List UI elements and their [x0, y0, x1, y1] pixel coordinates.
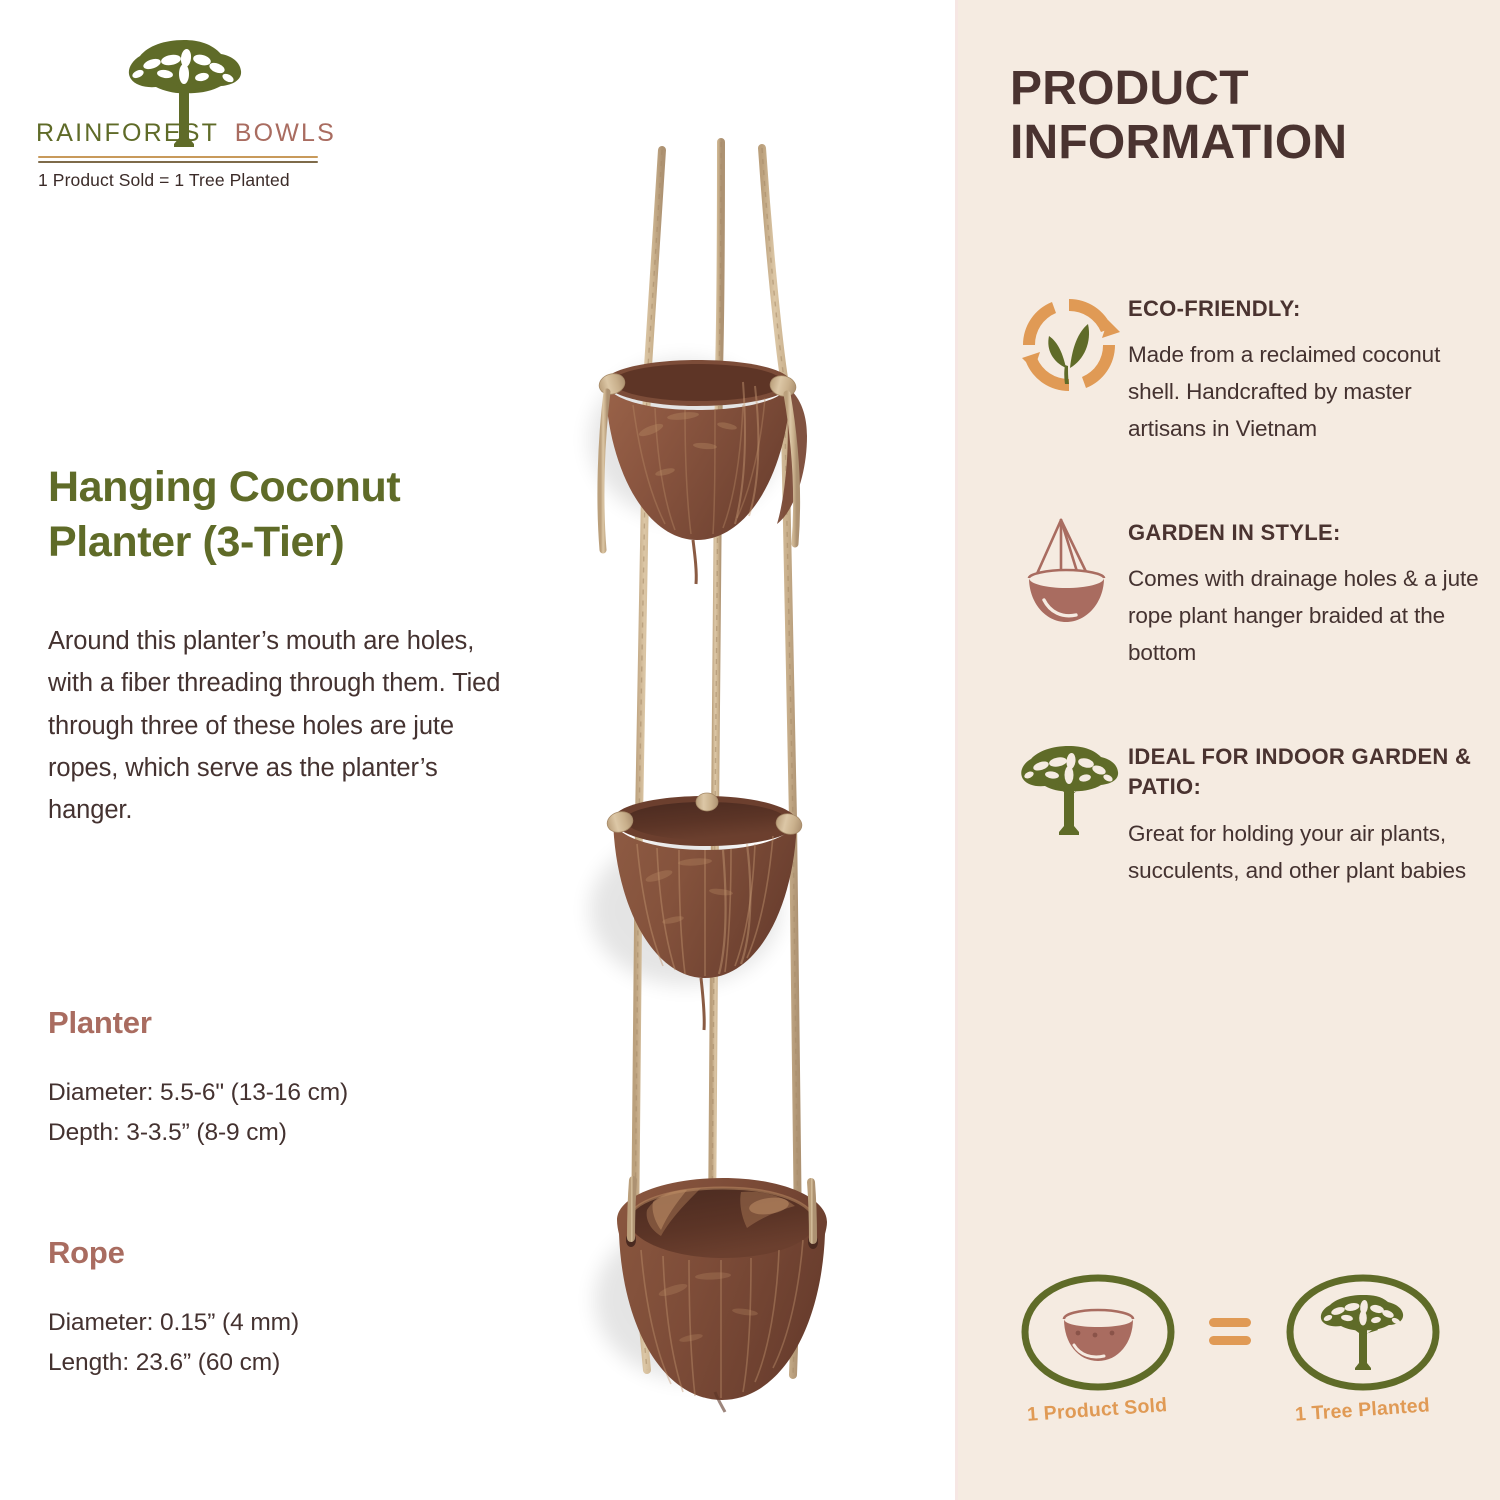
feature-text-garden-in-style: GARDEN IN STYLE: Comes with drainage hol… [1128, 514, 1480, 672]
logo-lockup: RAINFOREST [36, 34, 336, 154]
equals-sign-icon [1200, 1318, 1260, 1345]
spec-planter-diameter: Diameter: 5.5-6" (13-16 cm) [48, 1073, 478, 1113]
feature-eco-friendly: ECO-FRIENDLY: Made from a reclaimed coco… [1010, 290, 1480, 448]
spec-heading-rope: Rope [48, 1235, 478, 1271]
product-description: Around this planter’s mouth are holes, w… [48, 620, 503, 832]
logo-word-bowls: BOWLS [235, 121, 336, 146]
one-sold-one-planted-badge: 1 Product Sold [1005, 1269, 1455, 1422]
spec-heading-planter: Planter [48, 1005, 478, 1041]
logo-rule-top [38, 156, 318, 158]
feature-text-eco-friendly: ECO-FRIENDLY: Made from a reclaimed coco… [1128, 290, 1480, 448]
logo-divider-rules [36, 156, 318, 163]
recycle-leaf-icon [1010, 290, 1128, 408]
feature-heading-ideal-indoor-garden: IDEAL FOR INDOOR GARDEN & PATIO: [1128, 742, 1480, 803]
feature-garden-in-style: GARDEN IN STYLE: Comes with drainage hol… [1010, 514, 1480, 672]
acacia-tree-icon [1279, 1269, 1447, 1397]
product-title: Hanging Coconut Planter (3-Tier) [48, 460, 528, 570]
spec-group-rope: Rope Diameter: 0.15” (4 mm) Length: 23.6… [48, 1235, 478, 1382]
spec-planter-depth: Depth: 3-3.5” (8-9 cm) [48, 1113, 478, 1153]
brand-logo[interactable]: RAINFOREST [36, 34, 336, 191]
feature-body-ideal-indoor-garden: Great for holding your air plants, succu… [1128, 816, 1480, 890]
acacia-tree-icon [122, 34, 246, 154]
acacia-tree-icon [1010, 738, 1128, 856]
feature-list: ECO-FRIENDLY: Made from a reclaimed coco… [1010, 290, 1480, 956]
panel-title: PRODUCT INFORMATION [1010, 62, 1480, 170]
product-infographic: RAINFOREST [0, 0, 1500, 1500]
feature-body-eco-friendly: Made from a reclaimed coconut shell. Han… [1128, 337, 1480, 448]
product-information-panel: PRODUCT INFORMATION [955, 0, 1500, 1500]
badge-label-tree-planted: 1 Tree Planted [1294, 1394, 1430, 1426]
spec-rope-length: Length: 23.6” (60 cm) [48, 1343, 478, 1383]
feature-heading-garden-in-style: GARDEN IN STYLE: [1128, 518, 1480, 548]
panel-divider [955, 0, 958, 1500]
spec-rope-diameter: Diameter: 0.15” (4 mm) [48, 1303, 478, 1343]
feature-body-garden-in-style: Comes with drainage holes & a jute rope … [1128, 561, 1480, 672]
badge-product-sold: 1 Product Sold [1005, 1269, 1190, 1422]
badge-tree-planted: 1 Tree Planted [1270, 1269, 1455, 1422]
feature-heading-eco-friendly: ECO-FRIENDLY: [1128, 294, 1480, 324]
equals-bar-bottom [1209, 1336, 1251, 1345]
feature-ideal-indoor-garden: IDEAL FOR INDOOR GARDEN & PATIO: Great f… [1010, 738, 1480, 890]
coconut-bowl-icon [1014, 1269, 1182, 1397]
logo-rule-bottom [38, 161, 318, 163]
product-photo [555, 120, 935, 1440]
brand-tagline: 1 Product Sold = 1 Tree Planted [36, 170, 336, 191]
feature-text-ideal-indoor-garden: IDEAL FOR INDOOR GARDEN & PATIO: Great f… [1128, 738, 1480, 890]
spec-group-planter: Planter Diameter: 5.5-6" (13-16 cm) Dept… [48, 1005, 478, 1152]
hanging-planter-icon [1010, 514, 1128, 632]
left-panel: RAINFOREST [0, 0, 955, 1500]
equals-bar-top [1209, 1318, 1251, 1327]
badge-label-product-sold: 1 Product Sold [1027, 1394, 1169, 1427]
